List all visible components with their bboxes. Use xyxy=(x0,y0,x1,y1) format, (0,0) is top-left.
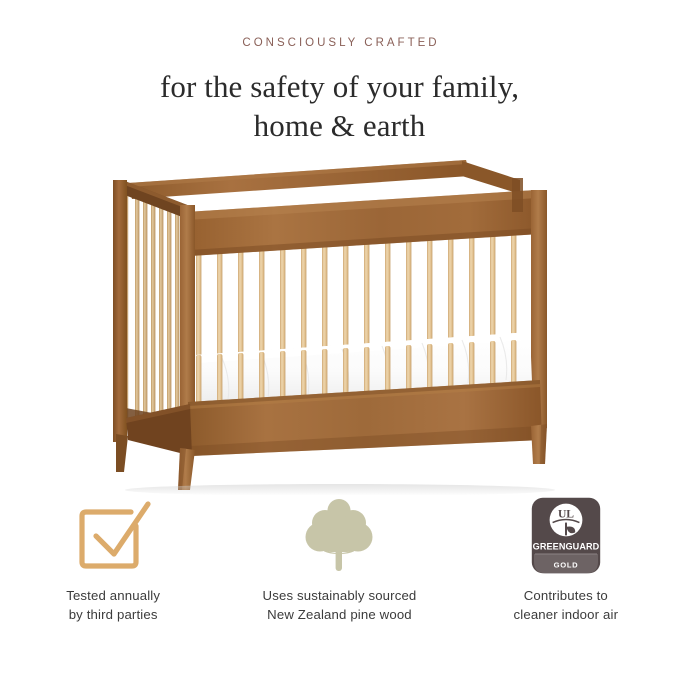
features-row: Tested annually by third parties Uses su… xyxy=(0,495,679,645)
headline-line-2: home & earth xyxy=(254,108,426,143)
eyebrow-text: CONSCIOUSLY CRAFTED xyxy=(3,38,679,50)
crib-illustration xyxy=(0,150,679,495)
badge-level-text: GOLD xyxy=(553,560,578,569)
headline-line-1: for the safety of your family, xyxy=(160,69,519,104)
tree-icon xyxy=(303,495,375,575)
page-title: for the safety of your family, home & ea… xyxy=(0,67,679,146)
feature-tested-annually: Tested annually by third parties xyxy=(0,495,226,624)
greenguard-gold-badge-icon: UL GREENGUARD GOLD xyxy=(531,495,601,575)
feature-caption: Contributes to cleaner indoor air xyxy=(514,587,619,624)
badge-title-text: GREENGUARD xyxy=(532,541,599,551)
feature-clean-air: UL GREENGUARD GOLD Contributes to cleane… xyxy=(453,495,679,624)
feature-sustainable-wood: Uses sustainably sourced New Zealand pin… xyxy=(226,495,452,624)
feature-caption: Tested annually by third parties xyxy=(66,587,160,624)
ul-mark-text: UL xyxy=(558,507,574,520)
header: CONSCIOUSLY CRAFTED for the safety of yo… xyxy=(0,0,679,146)
checkbox-check-icon xyxy=(74,495,152,575)
product-image xyxy=(0,150,679,495)
feature-caption: Uses sustainably sourced New Zealand pin… xyxy=(263,587,417,624)
